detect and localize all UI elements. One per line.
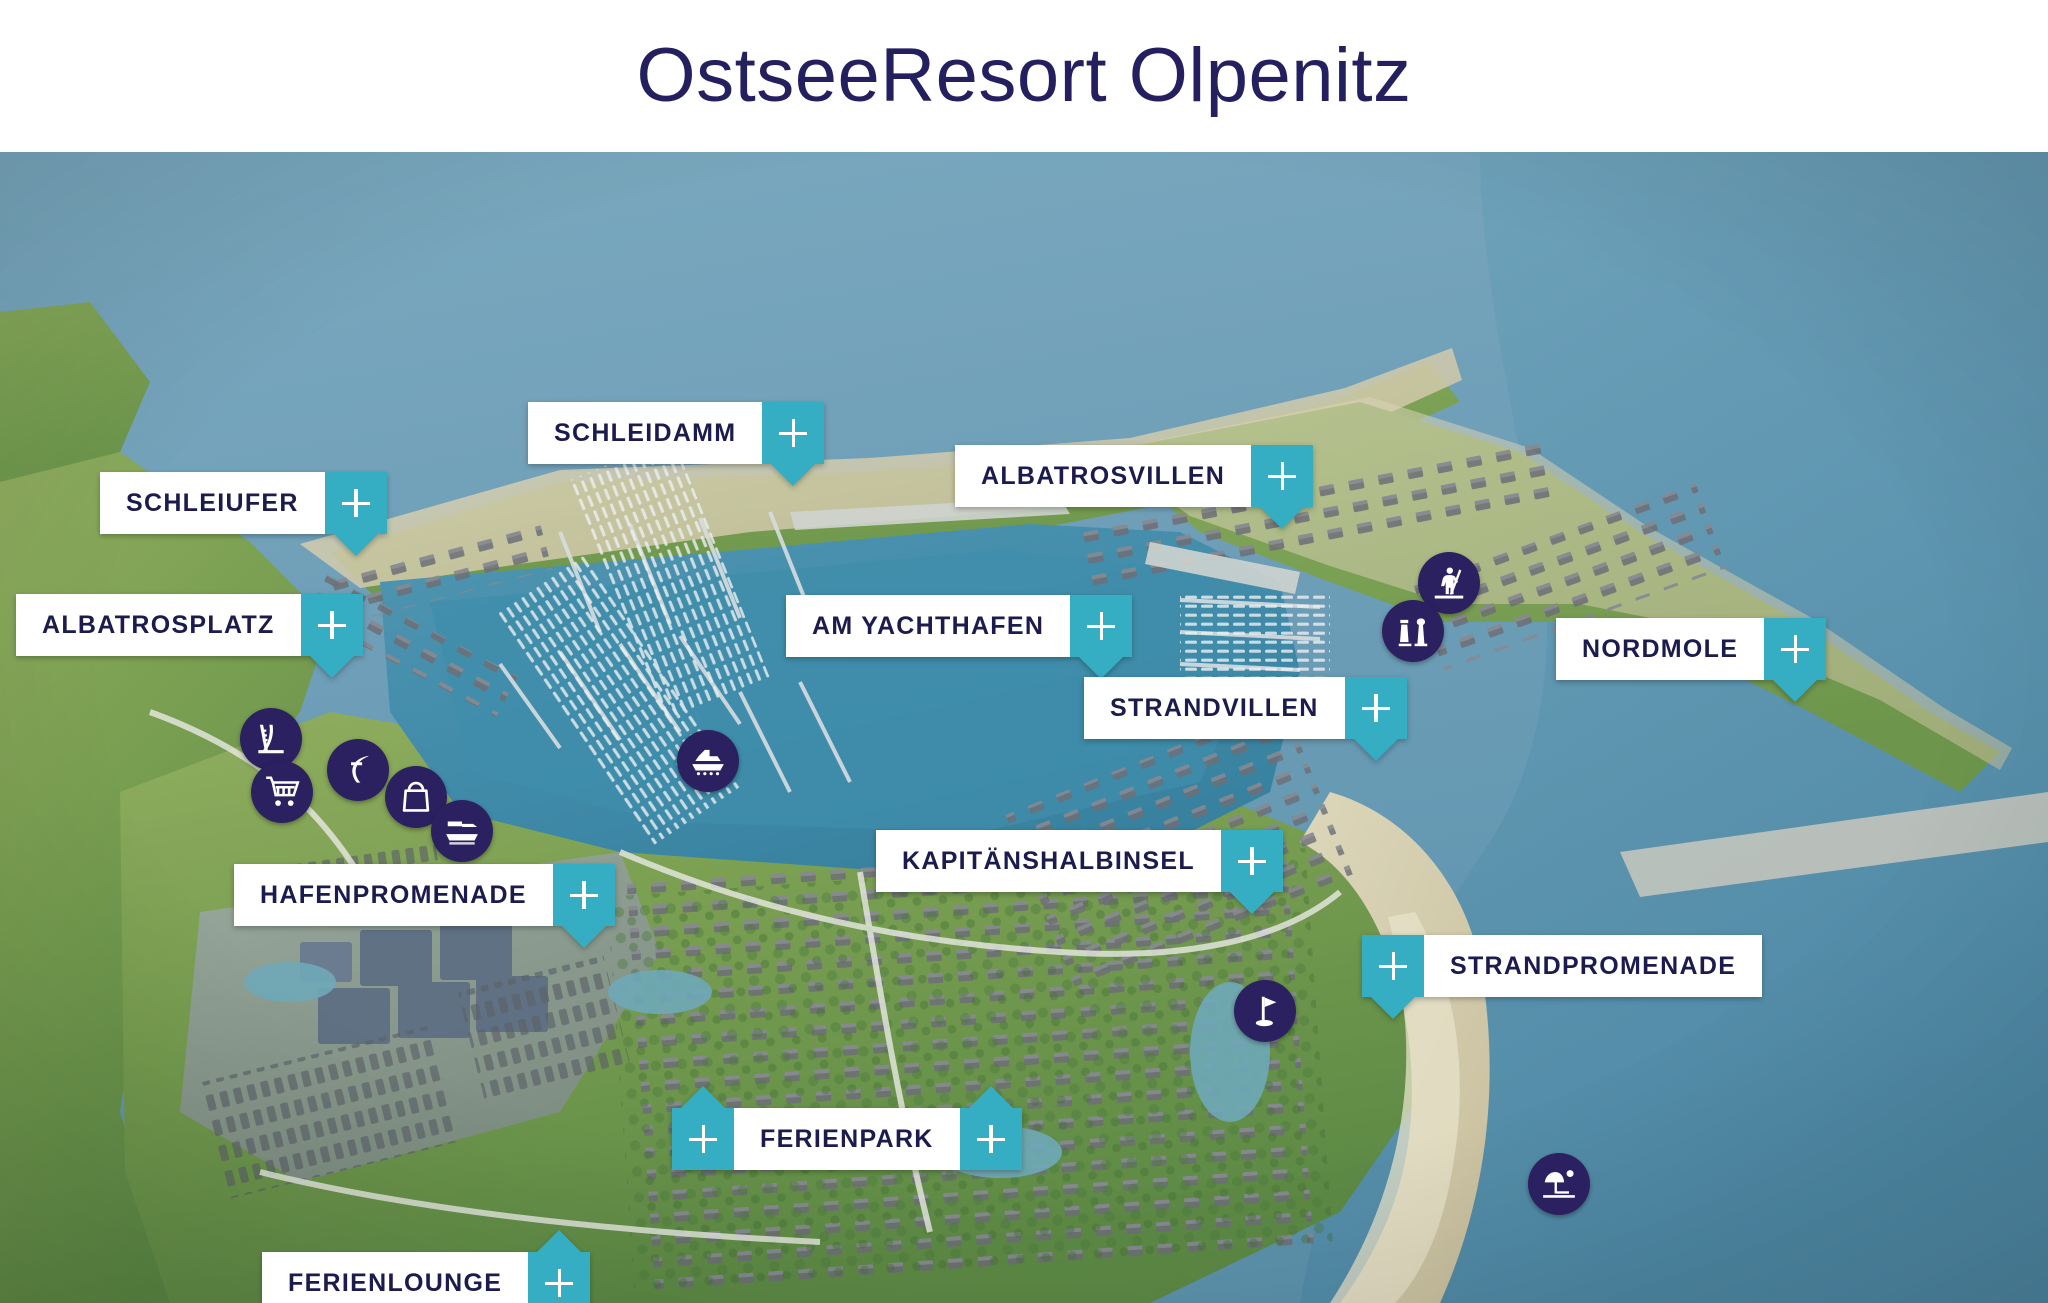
expand-plus-button[interactable] [553, 864, 615, 926]
map-label-text: FERIENLOUNGE [288, 1271, 502, 1296]
expand-plus-button[interactable] [1345, 677, 1407, 739]
map-label-albatrosvillen[interactable]: ALBATROSVILLEN [955, 445, 1313, 507]
title-bar: OstseeResort Olpenitz [0, 0, 2048, 150]
map-label-strandvillen[interactable]: STRANDVILLEN [1084, 677, 1407, 739]
label-box: KAPITÄNSHALBINSEL [876, 830, 1221, 892]
water-slide-icon[interactable] [240, 708, 302, 770]
map-label-text: STRANDPROMENADE [1450, 954, 1736, 979]
plus-v-bar [1794, 635, 1798, 663]
label-box: STRANDPROMENADE [1424, 935, 1762, 997]
plus-v-bar [1281, 462, 1285, 490]
map-label-text: SCHLEIUFER [126, 491, 299, 516]
plus-v-bar [1374, 694, 1378, 722]
map-label-ferienlounge[interactable]: FERIENLOUNGE [262, 1252, 590, 1303]
golf-flag-icon[interactable] [1234, 980, 1296, 1042]
map-label-kapitaenshalbinsel[interactable]: KAPITÄNSHALBINSEL [876, 830, 1283, 892]
shopping-cart-icon[interactable] [251, 761, 313, 823]
map-label-nordmole[interactable]: NORDMOLE [1556, 618, 1826, 680]
resort-aerial-map[interactable]: SCHLEIDAMM SCHLEIUFER ALBATROSVILLEN [0, 152, 2048, 1303]
label-box: SCHLEIDAMM [528, 402, 762, 464]
expand-plus-button[interactable] [1764, 618, 1826, 680]
lighthouse-icon[interactable] [1382, 600, 1444, 662]
map-label-text: FERIENPARK [760, 1127, 934, 1152]
plus-v-bar [792, 419, 796, 447]
plus-v-bar [702, 1125, 706, 1153]
map-label-am-yachthafen[interactable]: AM YACHTHAFEN [786, 595, 1132, 657]
label-box: FERIENLOUNGE [262, 1252, 528, 1303]
expand-plus-button[interactable] [528, 1252, 590, 1303]
plus-v-bar [1100, 612, 1104, 640]
expand-plus-button[interactable] [762, 402, 824, 464]
label-box: SCHLEIUFER [100, 472, 325, 534]
map-label-text: ALBATROSPLATZ [42, 613, 275, 638]
boat-ramp-icon[interactable] [431, 800, 493, 862]
label-box: AM YACHTHAFEN [786, 595, 1070, 657]
map-label-schleiufer[interactable]: SCHLEIUFER [100, 472, 387, 534]
label-box: NORDMOLE [1556, 618, 1764, 680]
expand-plus-button[interactable] [325, 472, 387, 534]
map-illustration [0, 152, 2048, 1303]
plus-v-bar [989, 1125, 993, 1153]
map-label-hafenpromenade[interactable]: HAFENPROMENADE [234, 864, 615, 926]
plus-v-bar [1392, 952, 1396, 980]
map-label-strandpromenade[interactable]: STRANDPROMENADE [1362, 935, 1762, 997]
plus-v-bar [1250, 847, 1254, 875]
map-label-text: AM YACHTHAFEN [812, 614, 1044, 639]
plus-v-bar [354, 489, 358, 517]
map-label-text: SCHLEIDAMM [554, 421, 736, 446]
plus-v-bar [558, 1269, 562, 1297]
map-label-text: NORDMOLE [1582, 637, 1738, 662]
label-box: ALBATROSPLATZ [16, 594, 301, 656]
expand-plus-button-right[interactable] [960, 1108, 1022, 1170]
expand-plus-button-left[interactable] [672, 1108, 734, 1170]
wakeboard-f-icon[interactable] [327, 739, 389, 801]
map-label-albatrosplatz[interactable]: ALBATROSPLATZ [16, 594, 363, 656]
map-label-text: HAFENPROMENADE [260, 883, 527, 908]
map-label-text: ALBATROSVILLEN [981, 464, 1225, 489]
expand-plus-button[interactable] [301, 594, 363, 656]
expand-plus-button[interactable] [1362, 935, 1424, 997]
expand-plus-button[interactable] [1221, 830, 1283, 892]
label-box: FERIENPARK [734, 1108, 960, 1170]
map-label-text: KAPITÄNSHALBINSEL [902, 849, 1195, 874]
plus-v-bar [330, 611, 334, 639]
expand-plus-button[interactable] [1251, 445, 1313, 507]
label-box: ALBATROSVILLEN [955, 445, 1251, 507]
page-title: OstseeResort Olpenitz [636, 32, 1411, 119]
label-box: STRANDVILLEN [1084, 677, 1345, 739]
resort-map-page: OstseeResort Olpenitz [0, 0, 2048, 1303]
plus-v-bar [582, 881, 586, 909]
label-box: HAFENPROMENADE [234, 864, 553, 926]
expand-plus-button[interactable] [1070, 595, 1132, 657]
map-label-ferienpark[interactable]: FERIENPARK [672, 1108, 1022, 1170]
motor-yacht-icon[interactable] [677, 730, 739, 792]
map-label-text: STRANDVILLEN [1110, 696, 1319, 721]
map-label-schleidamm[interactable]: SCHLEIDAMM [528, 402, 824, 464]
beach-umbrella-icon[interactable] [1528, 1153, 1590, 1215]
